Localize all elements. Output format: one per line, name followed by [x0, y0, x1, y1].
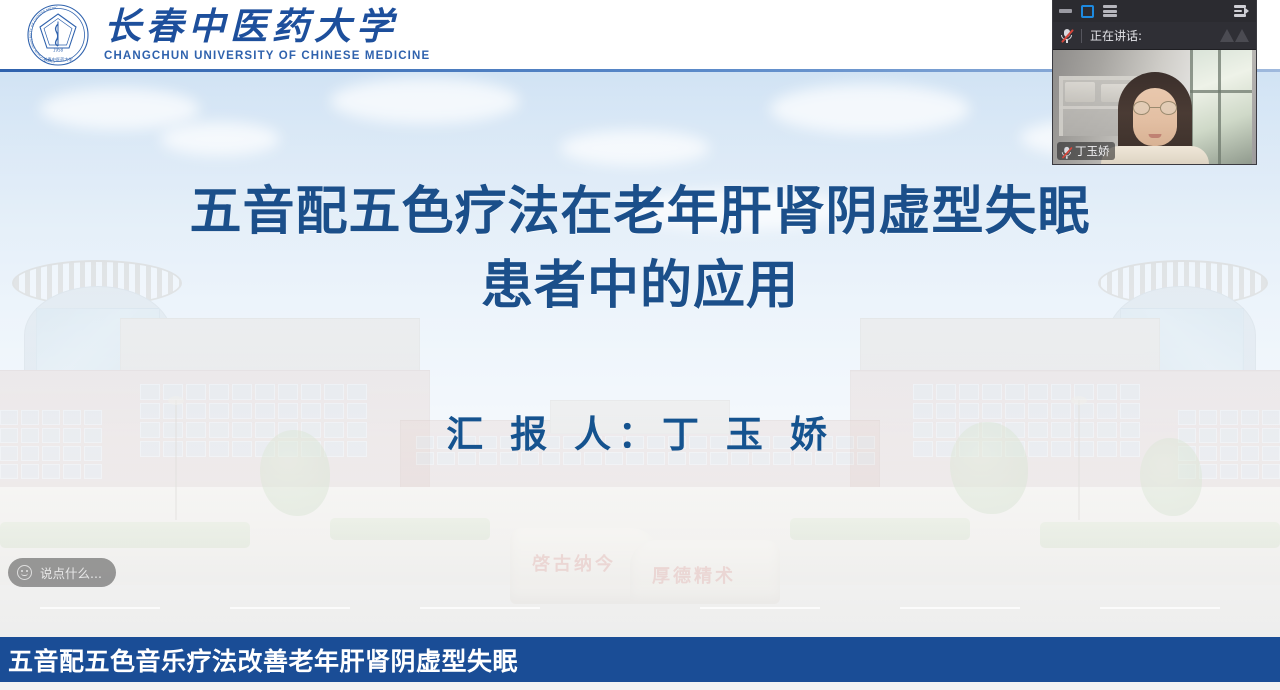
slide-bottom-banner: 五音配五色音乐疗法改善老年肝肾阴虚型失眠 [0, 637, 1280, 682]
hedge [330, 518, 490, 540]
cloud [560, 130, 710, 166]
slide-title-line2: 患者中的应用 [0, 250, 1280, 324]
slide-title-line1: 五音配五色疗法在老年肝肾阴虚型失眠 [0, 176, 1280, 250]
university-name-en: CHANGCHUN UNIVERSITY OF CHINESE MEDICINE [104, 50, 430, 62]
banner-text: 五音配五色音乐疗法改善老年肝肾阴虚型失眠 [0, 642, 518, 678]
collapse-panel-icon[interactable] [1234, 5, 1249, 17]
status-divider [1081, 29, 1082, 43]
list-menu-icon[interactable] [1103, 5, 1117, 17]
hedge [1040, 522, 1280, 548]
svg-text:长春中医药大学: 长春中医药大学 [43, 56, 72, 63]
chat-input-pill[interactable]: 说点什么... [8, 558, 116, 587]
mic-muted-icon[interactable] [1061, 145, 1070, 156]
cloud [770, 84, 970, 134]
hedge [0, 522, 250, 548]
vc-titlebar[interactable] [1053, 0, 1256, 22]
campus-monument: 啓古纳今 厚德精术 [500, 510, 790, 620]
speaking-label: 正在讲话: [1090, 27, 1142, 44]
slide-presenter: 汇 报 人：丁 玉 娇 [0, 404, 1280, 458]
hedge [790, 518, 970, 540]
minimize-icon[interactable] [1059, 9, 1072, 13]
cloud [330, 78, 520, 124]
participant-name-badge: 丁玉娇 [1057, 142, 1115, 160]
vc-status-bar: 正在讲话: [1053, 22, 1256, 49]
video-conference-panel[interactable]: 正在讲话: [1053, 0, 1256, 164]
cloud [40, 88, 200, 130]
restore-window-icon[interactable] [1081, 5, 1094, 18]
mic-muted-icon[interactable] [1060, 28, 1073, 43]
participant-video-tile[interactable]: 丁玉娇 [1053, 49, 1256, 164]
monument-text-left: 啓古纳今 [532, 550, 616, 576]
university-seal-icon: 1958 CHANGCHUN UNIVERSITY OF CHINESE MED… [26, 3, 90, 67]
screen-root: 啓古纳今 厚德精术 1958 [0, 0, 1280, 690]
participant-name: 丁玉娇 [1075, 143, 1110, 159]
university-logo: 1958 CHANGCHUN UNIVERSITY OF CHINESE MED… [0, 3, 430, 67]
university-name-cn: 长春中医药大学 [104, 8, 430, 45]
cloud [160, 122, 280, 156]
slide-title: 五音配五色疗法在老年肝肾阴虚型失眠 患者中的应用 [0, 176, 1280, 324]
audio-waveform-icon [1220, 29, 1249, 42]
monument-text-right: 厚德精术 [652, 562, 736, 588]
university-name-block: 长春中医药大学 CHANGCHUN UNIVERSITY OF CHINESE … [104, 8, 430, 62]
banner-underline-strip [0, 682, 1280, 690]
smiley-icon[interactable] [17, 565, 32, 580]
chat-placeholder[interactable]: 说点什么... [40, 563, 102, 582]
svg-text:1958: 1958 [53, 48, 64, 53]
